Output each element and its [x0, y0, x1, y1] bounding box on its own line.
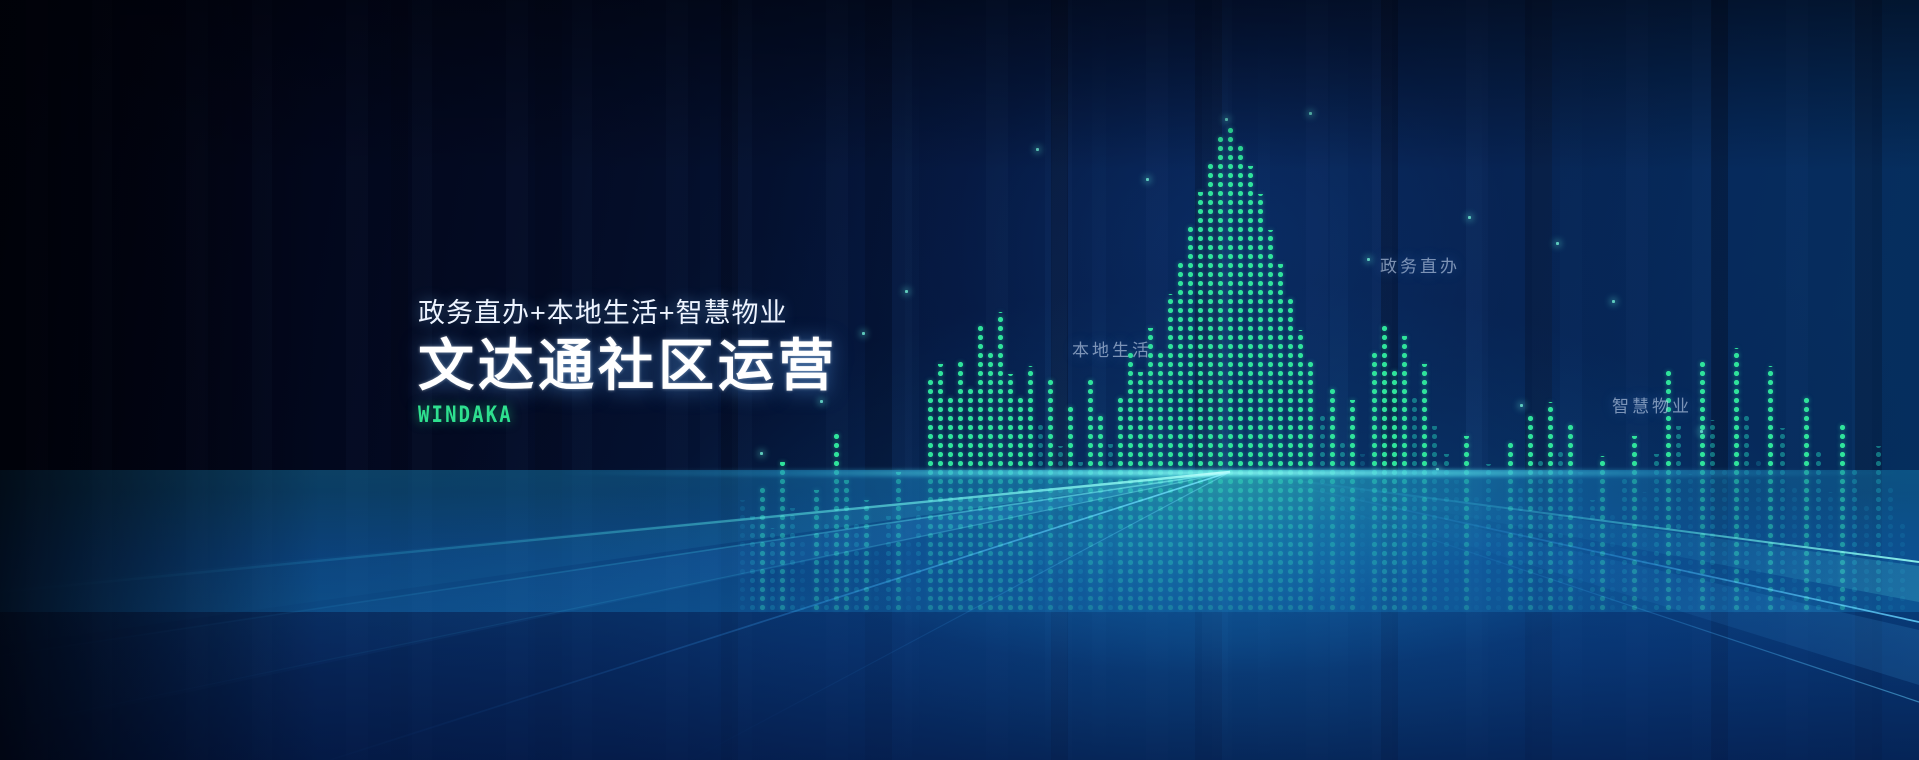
skyline-bar: [1546, 402, 1555, 612]
dotted-skyline-chart: [0, 0, 1919, 612]
skyline-bar: [1056, 446, 1065, 612]
skyline-bar: [1698, 362, 1707, 612]
skyline-bar: [1506, 440, 1515, 612]
skyline-bar: [1526, 416, 1535, 612]
skyline-bar: [748, 516, 757, 612]
skyline-bar: [1576, 472, 1585, 612]
skyline-bar: [1006, 374, 1015, 612]
skyline-bar: [1358, 454, 1367, 612]
skyline-bar: [832, 434, 841, 612]
skyline-bar: [1390, 368, 1399, 612]
skyline-bar: [1620, 478, 1629, 612]
skyline-bar: [926, 380, 935, 612]
background-dark-stripe-texture: [0, 0, 1919, 760]
skyline-bar: [1862, 506, 1871, 612]
brand-wordmark: WINDAKA: [418, 403, 779, 428]
top-vignette: [0, 0, 1919, 170]
skyline-bar: [1106, 444, 1115, 612]
skyline-bar: [1874, 446, 1883, 612]
skyline-bar: [1790, 484, 1799, 612]
particle-dot: [1436, 468, 1439, 471]
skyline-bar: [1206, 160, 1215, 612]
skyline-bar: [946, 396, 955, 612]
skyline-bar: [1430, 426, 1439, 612]
skyline-bar: [1266, 230, 1275, 612]
skyline-bar: [1494, 508, 1503, 612]
perspective-lines: [0, 470, 1919, 760]
skyline-bar: [1608, 514, 1617, 612]
particle-dot: [1700, 430, 1703, 433]
skyline-bar: [778, 462, 787, 612]
light-shaft: [1466, 0, 1482, 760]
horizon-glow: [0, 468, 1919, 478]
sector-tag-smart-property: 智慧物业: [1612, 392, 1692, 417]
skyline-bar: [1066, 406, 1075, 612]
light-shaft: [1092, 0, 1106, 760]
skyline-bar: [1026, 366, 1035, 612]
skyline-bar: [914, 504, 923, 612]
particle-dot: [905, 290, 908, 293]
skyline-bar: [1598, 456, 1607, 612]
skyline-bar: [1176, 260, 1185, 612]
skyline-bar: [1338, 442, 1347, 612]
particle-dot: [1309, 112, 1312, 115]
skyline-bar: [1380, 322, 1389, 612]
skyline-bar: [1484, 464, 1493, 612]
skyline-bar: [1166, 294, 1175, 612]
skyline-bar: [1046, 380, 1055, 612]
skyline-bar: [1886, 488, 1895, 612]
skyline-bar: [1732, 348, 1741, 612]
skyline-bar: [812, 490, 821, 612]
skyline-bar: [1328, 386, 1337, 612]
skyline-bar: [1420, 364, 1429, 612]
skyline-bar: [738, 500, 747, 612]
light-shaft: [1258, 0, 1270, 760]
skyline-bar: [1720, 466, 1729, 612]
light-shaft: [1560, 0, 1582, 760]
particle-dot: [1612, 300, 1615, 303]
skyline-bar: [1838, 422, 1847, 612]
skyline-bar: [1566, 424, 1575, 612]
particle-dot: [1036, 148, 1039, 151]
skyline-bar: [894, 472, 903, 612]
skyline-bar: [966, 386, 975, 612]
skyline-bar: [1036, 424, 1045, 612]
skyline-bar: [1216, 134, 1225, 612]
skyline-bar: [1472, 494, 1481, 612]
skyline-bar: [1850, 470, 1859, 612]
skyline-bar: [1652, 454, 1661, 612]
skyline-bar: [1256, 194, 1265, 612]
skyline-bar: [852, 524, 861, 612]
skyline-bar: [1196, 192, 1205, 612]
particle-dot: [760, 452, 763, 455]
light-shaft: [1330, 0, 1348, 760]
light-shaft: [1045, 0, 1067, 760]
skyline-bar: [1630, 436, 1639, 612]
skyline-bar: [1236, 142, 1245, 612]
particle-dot: [1468, 216, 1471, 219]
light-shaft: [905, 0, 919, 760]
skyline-bar: [1226, 126, 1235, 612]
skyline-bar: [1400, 336, 1409, 612]
hero-banner: 本地生活 政务直办 智慧物业 政务直办+本地生活+智慧物业 文达通社区运营 WI…: [0, 0, 1919, 760]
skyline-bar: [1754, 460, 1763, 612]
sector-tag-local-life: 本地生活: [1072, 336, 1152, 361]
skyline-bar: [1826, 492, 1835, 612]
skyline-bar: [1306, 360, 1315, 612]
skyline-bar: [842, 480, 851, 612]
particle-dot: [1146, 178, 1149, 181]
particle-dot: [1556, 242, 1559, 245]
skyline-bar: [1016, 398, 1025, 612]
particle-dot: [862, 332, 865, 335]
skyline-bar: [1814, 452, 1823, 612]
skyline-bar: [904, 538, 913, 612]
skyline-bar: [1742, 414, 1751, 612]
skyline-bar: [1246, 166, 1255, 612]
skyline-bar: [1674, 426, 1683, 612]
skyline-bar: [996, 312, 1005, 612]
skyline-bar: [822, 520, 831, 612]
skyline-bar: [1898, 520, 1907, 612]
skyline-bar: [1348, 400, 1357, 612]
skyline-bar: [1096, 416, 1105, 612]
skyline-bar: [758, 484, 767, 612]
sector-tag-government-service: 政务直办: [1380, 252, 1460, 277]
particle-dot: [1225, 118, 1228, 121]
skyline-bar: [1318, 416, 1327, 612]
skyline-bar: [1186, 226, 1195, 612]
skyline-bar: [798, 542, 807, 612]
skyline-bar: [1276, 264, 1285, 612]
skyline-bar: [956, 360, 965, 612]
skyline-bar: [1086, 378, 1095, 612]
perspective-ground: [0, 470, 1919, 760]
skyline-bar: [1410, 398, 1419, 612]
banner-title: 文达通社区运营: [418, 337, 838, 396]
light-shaft: [1202, 0, 1228, 760]
skyline-bar: [1664, 370, 1673, 612]
particle-dot: [1367, 258, 1370, 261]
skyline-bar: [976, 322, 985, 612]
skyline-bar: [788, 508, 797, 612]
background-stripe-texture: [0, 0, 1919, 760]
skyline-bar: [1452, 480, 1461, 612]
skyline-bar: [1516, 484, 1525, 612]
ground-gradient: [0, 470, 1919, 760]
skyline-bar: [1136, 372, 1145, 612]
skyline-bar: [1296, 330, 1305, 612]
skyline-bar: [1286, 296, 1295, 612]
skyline-bar: [936, 364, 945, 612]
skyline-bar: [1146, 328, 1155, 612]
skyline-bar: [862, 500, 871, 612]
headline-block: 政务直办+本地生活+智慧物业 文达通社区运营 WINDAKA: [418, 296, 838, 428]
light-shaft-layer: [0, 0, 1919, 760]
skyline-bar: [872, 548, 881, 612]
skyline-bar: [1556, 448, 1565, 612]
skyline-bar: [1640, 492, 1649, 612]
left-vignette: [0, 0, 320, 760]
skyline-bar: [1778, 428, 1787, 612]
skyline-bar: [1462, 436, 1471, 612]
banner-subtitle: 政务直办+本地生活+智慧物业: [418, 296, 838, 331]
skyline-bar: [1156, 350, 1165, 612]
skyline-bar: [1370, 350, 1379, 612]
skyline-bar: [1442, 454, 1451, 612]
particle-dot: [1520, 404, 1523, 407]
skyline-bar: [1686, 474, 1695, 612]
skyline-bar: [768, 528, 777, 612]
skyline-bar: [986, 350, 995, 612]
skyline-bar: [1802, 396, 1811, 612]
skyline-bar: [1708, 420, 1717, 612]
skyline-bar: [1588, 500, 1597, 612]
skyline-bar: [1536, 460, 1545, 612]
skyline-bar: [1116, 398, 1125, 612]
skyline-bar: [1766, 366, 1775, 612]
skyline-bar: [1126, 352, 1135, 612]
skyline-bar: [884, 516, 893, 612]
skyline-bar: [1076, 462, 1085, 612]
